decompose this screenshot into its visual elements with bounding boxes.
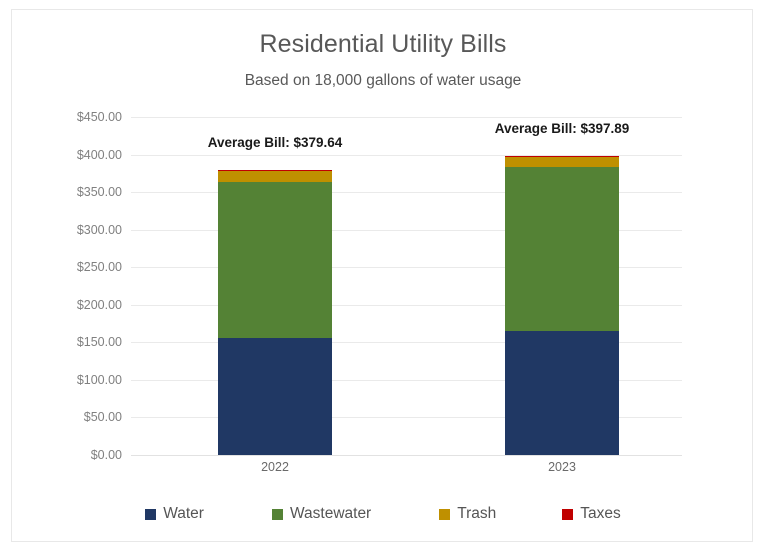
average-bill-label-2022: Average Bill: $379.64 — [165, 135, 385, 150]
chart-title: Residential Utility Bills — [12, 30, 754, 59]
bar-2022[interactable] — [218, 170, 332, 455]
bar-segment-water[interactable] — [218, 338, 332, 455]
legend-swatch-water-icon — [145, 509, 156, 520]
chart-subtitle: Based on 18,000 gallons of water usage — [12, 72, 754, 90]
y-axis-tick-label: $200.00 — [53, 298, 131, 312]
y-axis-tick-label: $150.00 — [53, 335, 131, 349]
chart-legend: WaterWastewaterTrashTaxes — [12, 505, 754, 523]
bar-2023[interactable] — [505, 156, 619, 455]
legend-label: Trash — [457, 505, 496, 523]
plot-area: $0.00$50.00$100.00$150.00$200.00$250.00$… — [131, 117, 682, 455]
y-axis-tick-label: $350.00 — [53, 185, 131, 199]
bar-segment-wastewater[interactable] — [218, 182, 332, 337]
bar-segment-trash[interactable] — [218, 171, 332, 182]
legend-swatch-taxes-icon — [562, 509, 573, 520]
y-axis-tick-label: $400.00 — [53, 148, 131, 162]
legend-item-wastewater[interactable]: Wastewater — [272, 505, 371, 523]
y-axis-tick-label: $300.00 — [53, 223, 131, 237]
gridline — [131, 455, 682, 456]
legend-label: Taxes — [580, 505, 621, 523]
legend-item-taxes[interactable]: Taxes — [562, 505, 621, 523]
gridline — [131, 117, 682, 118]
x-axis-label-2022: 2022 — [218, 460, 332, 474]
y-axis-tick-label: $50.00 — [53, 410, 131, 424]
bar-segment-trash[interactable] — [505, 157, 619, 167]
legend-label: Water — [163, 505, 204, 523]
y-axis-tick-label: $100.00 — [53, 373, 131, 387]
y-axis-tick-label: $250.00 — [53, 260, 131, 274]
legend-item-water[interactable]: Water — [145, 505, 204, 523]
legend-label: Wastewater — [290, 505, 371, 523]
chart-card: Residential Utility Bills Based on 18,00… — [11, 9, 753, 542]
bar-segment-water[interactable] — [505, 331, 619, 455]
y-axis-tick-label: $450.00 — [53, 110, 131, 124]
y-axis-tick-label: $0.00 — [53, 448, 131, 462]
legend-swatch-wastewater-icon — [272, 509, 283, 520]
legend-item-trash[interactable]: Trash — [439, 505, 496, 523]
legend-swatch-trash-icon — [439, 509, 450, 520]
bar-segment-wastewater[interactable] — [505, 167, 619, 330]
x-axis-label-2023: 2023 — [505, 460, 619, 474]
average-bill-label-2023: Average Bill: $397.89 — [452, 121, 672, 136]
